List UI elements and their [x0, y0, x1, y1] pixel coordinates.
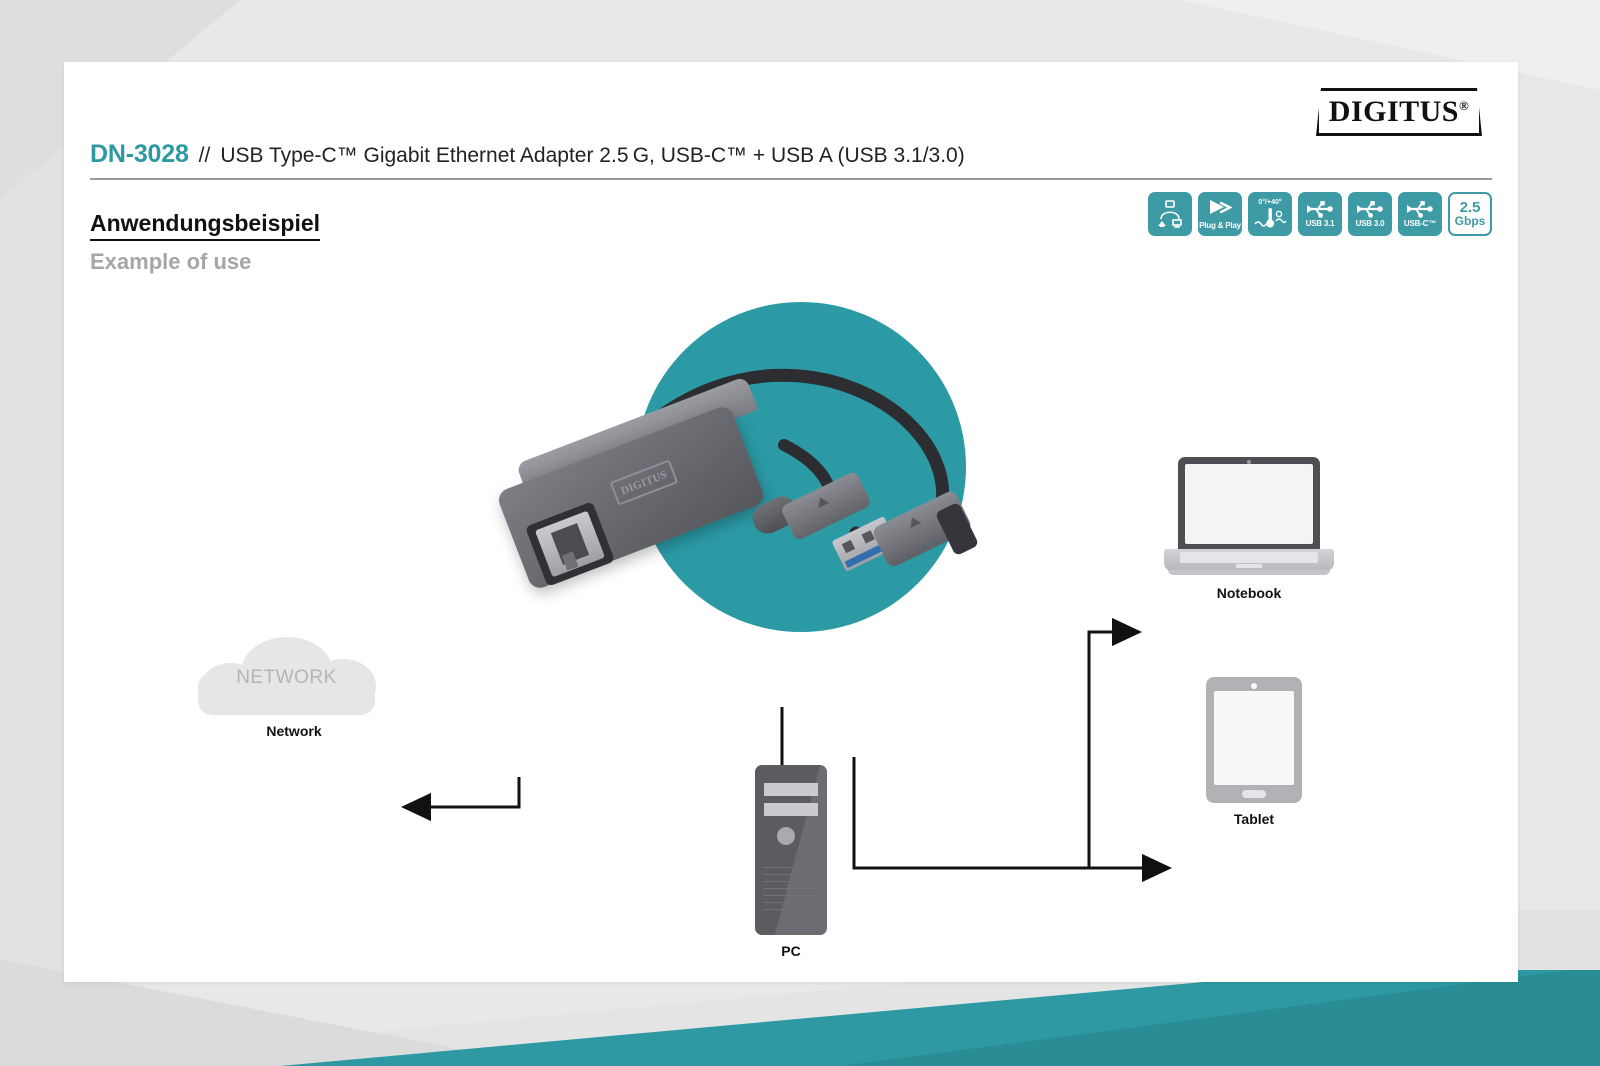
endpoint-notebook: Notebook [1154, 457, 1344, 601]
arrow-to-network [404, 777, 519, 807]
temperature-label: 0°/+40° [1258, 199, 1281, 206]
feature-usb30-icon: USB 3.0 [1348, 192, 1392, 236]
product-description: USB Type-C™ Gigabit Ethernet Adapter 2.5… [220, 144, 964, 168]
endpoint-tablet: Tablet [1189, 677, 1319, 827]
title-separator: // [199, 144, 211, 168]
content-card: DIGITUS® DN-3028 // USB Type-C™ Gigabit … [64, 62, 1518, 982]
pc-tower-icon [755, 765, 827, 935]
tablet-icon [1206, 677, 1302, 803]
section-heading-en: Example of use [90, 249, 320, 275]
pc-power-button [777, 827, 795, 845]
feature-temperature-range-icon: 0°/+40° [1248, 192, 1292, 236]
feature-plug-and-play-icon: Plug & Play [1198, 192, 1242, 236]
feature-usb-c-icon: USB-C™ [1398, 192, 1442, 236]
endpoint-label-pc: PC [736, 943, 846, 959]
endpoint-pc: PC [736, 765, 846, 959]
feature-icon-strip: Plug & Play 0°/+40° [1148, 192, 1492, 236]
page-root: DIGITUS® DN-3028 // USB Type-C™ Gigabit … [0, 0, 1600, 1066]
endpoint-label-notebook: Notebook [1154, 585, 1344, 601]
digitus-logo: DIGITUS® [1316, 88, 1482, 136]
logo-wordmark: DIGITUS [1329, 95, 1459, 128]
feature-caption: USB 3.1 [1306, 220, 1335, 228]
header-title-row: DN-3028 // USB Type-C™ Gigabit Ethernet … [90, 140, 1492, 180]
feature-speed-badge: 2.5 Gbps [1448, 192, 1492, 236]
endpoint-network: NETWORK Network [194, 637, 394, 739]
article-number: DN-3028 [90, 140, 189, 169]
speed-unit: Gbps [1455, 215, 1486, 228]
product-image: DIGITUS [484, 337, 1044, 667]
cloud-inner-label: NETWORK [194, 667, 379, 689]
notebook-icon [1164, 457, 1334, 577]
feature-caption: Plug & Play [1199, 222, 1241, 230]
feature-usb31-icon: USB 3.1 [1298, 192, 1342, 236]
speed-value: 2.5 [1460, 200, 1481, 215]
usage-diagram: DIGITUS [64, 282, 1518, 982]
cloud-icon: NETWORK [194, 637, 379, 715]
section-headings: Anwendungsbeispiel Example of use [90, 210, 320, 275]
feature-home-network-icon [1148, 192, 1192, 236]
feature-caption: USB 3.0 [1356, 220, 1385, 228]
registered-mark: ® [1459, 98, 1469, 113]
feature-caption: USB-C™ [1404, 220, 1436, 228]
arrow-to-notebook [854, 632, 1139, 868]
section-heading-de: Anwendungsbeispiel [90, 210, 320, 241]
endpoint-label-tablet: Tablet [1189, 811, 1319, 827]
endpoint-label-network: Network [194, 723, 394, 739]
